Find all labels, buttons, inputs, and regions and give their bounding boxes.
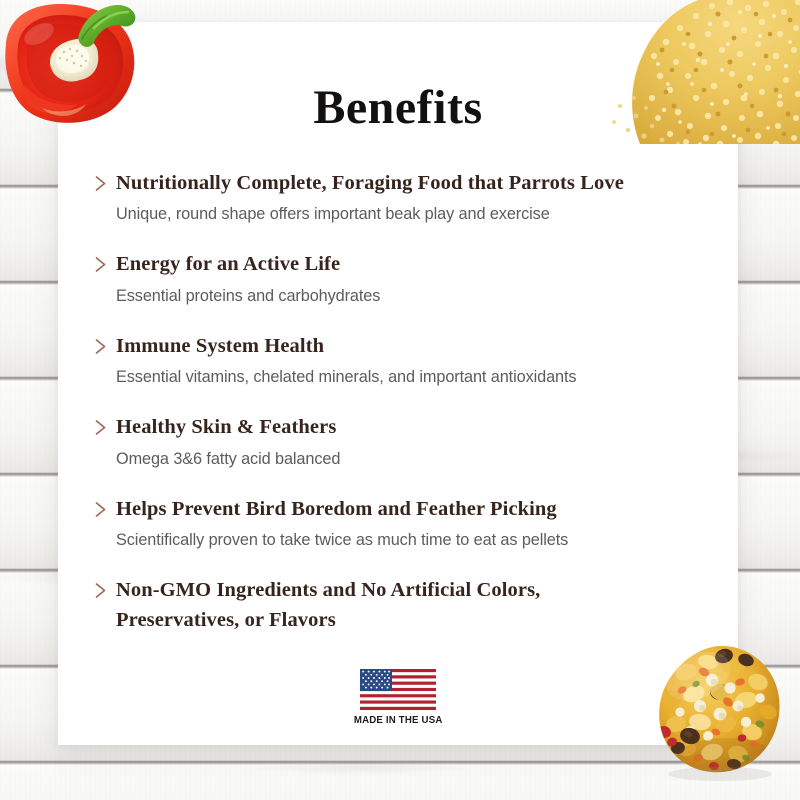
benefit-subtext: Unique, round shape offers important bea… (116, 203, 704, 226)
benefit-heading: Helps Prevent Bird Boredom and Feather P… (116, 495, 704, 524)
benefit-subtext: Essential vitamins, chelated minerals, a… (116, 366, 704, 389)
chevron-right-icon (94, 413, 116, 436)
benefits-card: Benefits Nutritionally Complete, Foragin… (58, 22, 738, 745)
chevron-right-icon (94, 169, 116, 192)
benefit-subtext: Essential proteins and carbohydrates (116, 285, 704, 308)
usa-flag-icon (360, 669, 436, 710)
page-title: Benefits (58, 80, 738, 135)
chevron-right-icon (94, 332, 116, 355)
list-item: Energy for an Active Life Essential prot… (94, 250, 704, 307)
list-item: Nutritionally Complete, Foraging Food th… (94, 169, 704, 226)
chevron-right-icon (94, 495, 116, 518)
benefit-heading: Healthy Skin & Feathers (116, 413, 704, 442)
list-item: Immune System Health Essential vitamins,… (94, 332, 704, 389)
made-in-usa-caption: MADE IN THE USA (354, 714, 443, 726)
chevron-right-icon (94, 250, 116, 273)
benefit-heading: Energy for an Active Life (116, 250, 704, 279)
made-in-usa-badge: MADE IN THE USA (58, 669, 738, 726)
list-item: Non-GMO Ingredients and No Artificial Co… (94, 576, 704, 635)
list-item: Helps Prevent Bird Boredom and Feather P… (94, 495, 704, 552)
benefit-subtext: Omega 3&6 fatty acid balanced (116, 448, 704, 471)
benefit-heading: Nutritionally Complete, Foraging Food th… (116, 169, 704, 198)
benefits-list: Nutritionally Complete, Foraging Food th… (58, 169, 738, 635)
page-background: Benefits Nutritionally Complete, Foragin… (0, 0, 800, 800)
benefit-heading: Immune System Health (116, 332, 704, 361)
chevron-right-icon (94, 576, 116, 599)
benefit-subtext: Scientifically proven to take twice as m… (116, 529, 704, 552)
benefit-heading: Non-GMO Ingredients and No Artificial Co… (116, 576, 586, 635)
list-item: Healthy Skin & Feathers Omega 3&6 fatty … (94, 413, 704, 470)
